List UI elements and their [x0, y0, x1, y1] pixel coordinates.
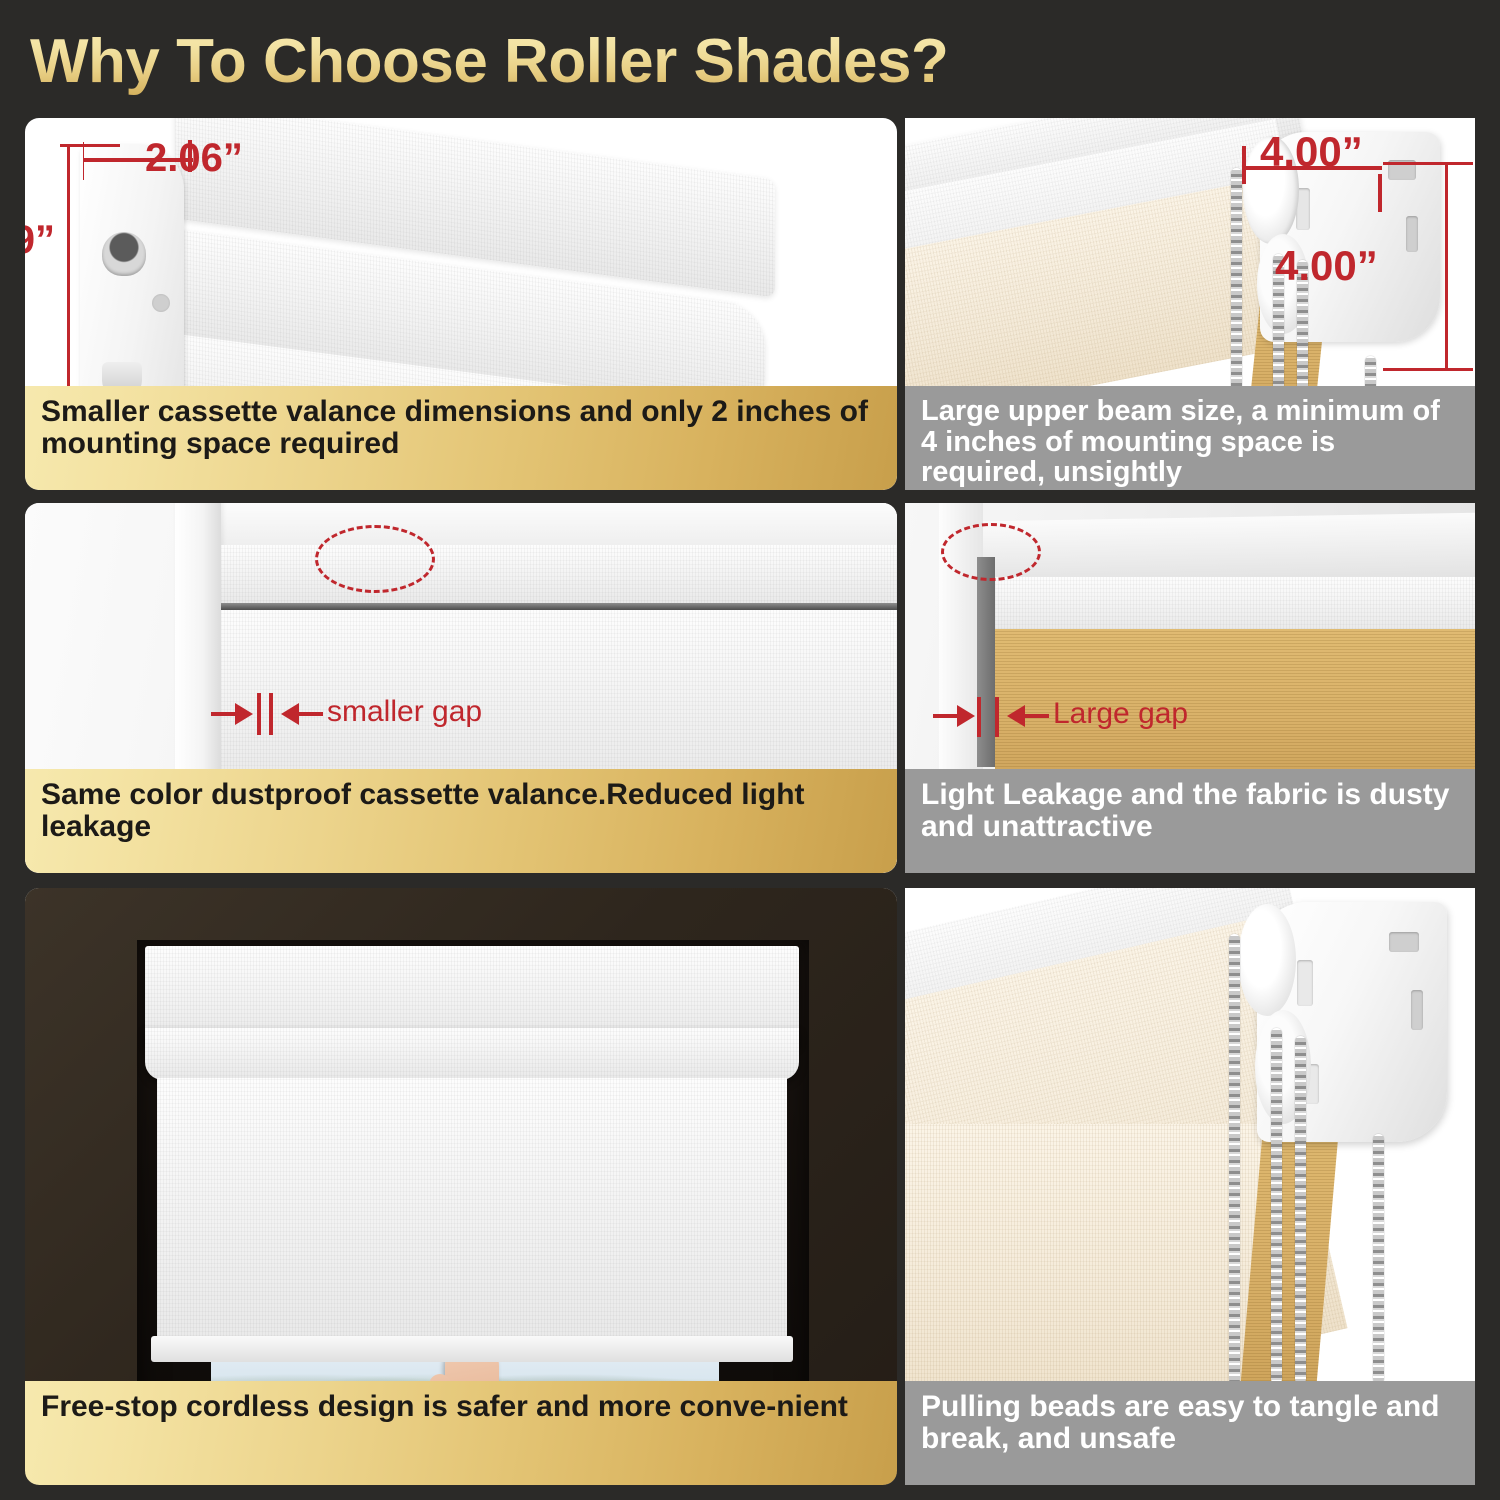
panel-cordless-design: Free-stop cordless design is safer and m… — [25, 888, 897, 1485]
dimension-label-width: 2.06” — [145, 136, 243, 181]
page-title: Why To Choose Roller Shades? — [30, 22, 1130, 102]
arrow-right-icon — [933, 701, 977, 731]
shade-fabric — [157, 1078, 787, 1340]
end-cap-knob — [102, 232, 146, 276]
dimension-label-beam-width: 4.00” — [1260, 128, 1363, 176]
dim-cap-top — [1383, 162, 1473, 165]
arrow-right-icon — [211, 699, 255, 729]
gap-tick-right — [269, 693, 273, 735]
arrow-left-icon — [279, 699, 323, 729]
gap-tick-left — [257, 693, 261, 735]
panel-light-leakage: Large gap Light Leakage and the fabric i… — [905, 503, 1475, 873]
window-side-jamb — [175, 503, 221, 793]
bead-chain-3 — [1295, 1036, 1306, 1384]
arrow-left-icon — [1005, 701, 1049, 731]
caption-cordless-design: Free-stop cordless design is safer and m… — [25, 1381, 897, 1485]
bead-chain-1 — [1229, 934, 1240, 1384]
window-head-jamb — [175, 503, 897, 551]
end-cap-screw — [152, 294, 170, 312]
bracket-notch-top — [1389, 932, 1419, 952]
gap-callout-label: smaller gap — [327, 695, 482, 729]
bead-chain-2 — [1271, 1028, 1282, 1384]
highlight-ellipse-icon — [941, 523, 1041, 581]
cassette-valance-lip — [145, 1028, 799, 1080]
caption-dustproof-valance: Same color dustproof cassette valance.Re… — [25, 769, 897, 873]
panel-dustproof-valance: smaller gap Same color dustproof cassett… — [25, 503, 897, 873]
panel-pulling-beads: Pulling beads are easy to tangle and bre… — [905, 888, 1475, 1485]
caption-light-leakage: Light Leakage and the fabric is dusty an… — [905, 769, 1475, 873]
dim-tick-left — [1242, 146, 1246, 184]
caption-large-beam: Large upper beam size, a minimum of 4 in… — [905, 386, 1475, 490]
dimension-label-beam-height: 4.00” — [1275, 242, 1378, 290]
dim-tick-right — [1378, 174, 1382, 212]
dimension-label-height: 5.49” — [25, 218, 55, 263]
highlight-ellipse-icon — [315, 525, 435, 593]
dim-cap-bottom — [1383, 368, 1473, 371]
panel-smaller-cassette: 2.06” 5.49” Smaller cassette valance dim… — [25, 118, 897, 490]
valance-gap-line — [221, 603, 897, 610]
roller-tube-end — [1238, 904, 1296, 1016]
dim-line-vertical — [1445, 162, 1448, 370]
bracket-notch-side — [1406, 216, 1418, 252]
caption-smaller-cassette: Smaller cassette valance dimensions and … — [25, 386, 897, 490]
bracket-slot-upper — [1297, 960, 1313, 1006]
infographic-root: Why To Choose Roller Shades? 2.06” 5.49”… — [0, 0, 1500, 1500]
panel-large-beam: 4.00” 4.00” Large upper beam size, a min… — [905, 118, 1475, 490]
bracket-notch-side — [1411, 990, 1423, 1030]
gap-callout-label: Large gap — [1053, 697, 1188, 731]
bottom-rail — [151, 1336, 793, 1362]
shade-white-band — [995, 577, 1475, 633]
gap-tick-right — [995, 697, 999, 737]
caption-pulling-beads: Pulling beads are easy to tangle and bre… — [905, 1381, 1475, 1485]
bead-chain-4 — [1373, 1134, 1384, 1384]
gap-tick-left — [977, 697, 981, 737]
